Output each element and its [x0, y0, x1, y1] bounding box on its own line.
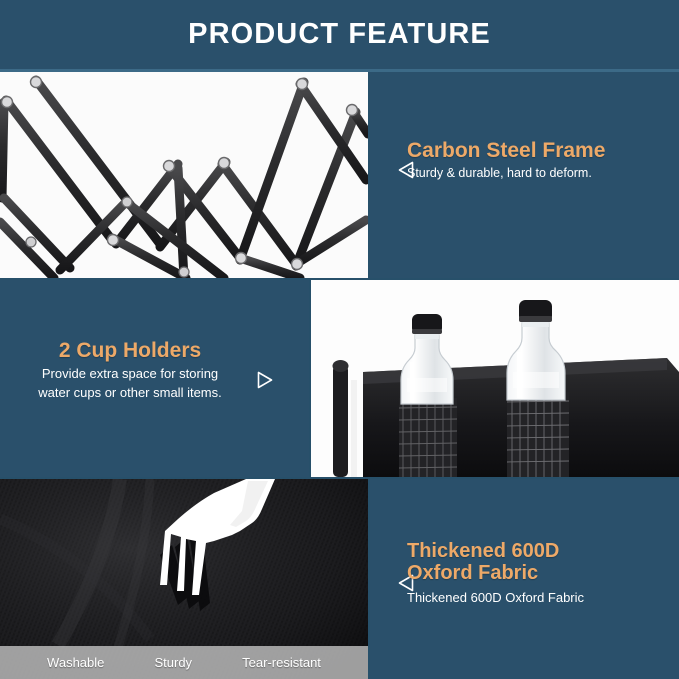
feature-subtitle: Thickened 600D Oxford Fabric [407, 590, 584, 606]
carbon-steel-frame-panel: Carbon Steel Frame Sturdy & durable, har… [370, 72, 679, 278]
feature-headline-line-2: Oxford Fabric [407, 563, 584, 585]
feature-subtitle-line-1: Provide extra space for storing [12, 366, 248, 382]
feature-headline-line-1: Thickened 600D [407, 541, 584, 563]
carbon-steel-frame-image [0, 72, 368, 278]
steel-frame-illustration [0, 72, 368, 278]
feature-headline: 2 Cup Holders [12, 340, 248, 363]
cup-holders-panel: 2 Cup Holders Provide extra space for st… [0, 280, 309, 477]
mesh-pocket [507, 392, 569, 477]
oxford-fabric-text-block: Thickened 600D Oxford Fabric Thickened 6… [398, 541, 673, 606]
oxford-fabric-panel: Thickened 600D Oxford Fabric Thickened 6… [370, 479, 679, 679]
bottles-in-cupholders-illustration [311, 280, 679, 477]
badge-tear-resistant: Tear-resistant [242, 655, 321, 670]
badge-washable: Washable [47, 655, 104, 670]
cup-holders-text-block: 2 Cup Holders Provide extra space for st… [12, 340, 302, 401]
badge-sturdy: Sturdy [154, 655, 192, 670]
feature-subtitle-line-2: water cups or other small items. [12, 385, 248, 401]
cup-holders-image [311, 280, 679, 477]
carbon-steel-frame-text-block: Carbon Steel Frame Sturdy & durable, har… [398, 140, 673, 181]
mesh-pocket [399, 398, 457, 477]
feature-headline: Carbon Steel Frame [407, 140, 605, 163]
oxford-fabric-image: Washable Sturdy Tear-resistant [0, 479, 368, 679]
page-title: PRODUCT FEATURE [188, 18, 491, 51]
product-feature-infographic: PRODUCT FEATURE [0, 0, 679, 679]
badge-strip: Washable Sturdy Tear-resistant [0, 646, 368, 679]
feature-subtitle: Sturdy & durable, hard to deform. [407, 166, 605, 182]
header-bar: PRODUCT FEATURE [0, 0, 679, 69]
